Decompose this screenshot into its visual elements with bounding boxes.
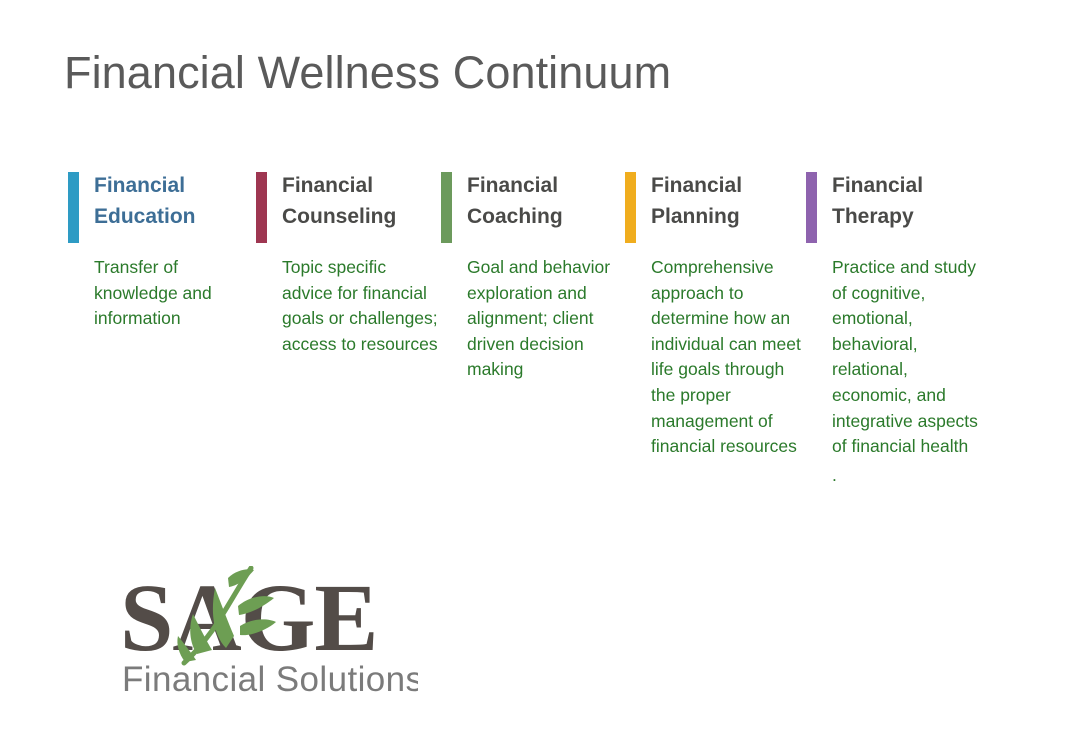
column-heading-line1: Financial [282,174,373,197]
column-heading-line2: Planning [651,201,806,232]
column-heading-financial-counseling: Financial Counseling [282,170,441,232]
column-description-text: Practice and study of cognitive, emotion… [832,257,978,456]
column-heading-line2: Education [94,201,256,232]
column-heading-line1: Financial [94,174,185,197]
sage-financial-solutions-logo: SAGE Financial Solutions [118,566,418,701]
column-heading-line1: Financial [832,174,923,197]
logo-graphic: SAGE Financial Solutions [118,566,418,701]
column-body-financial-education: Financial Education Transfer of knowledg… [79,170,256,332]
continuum-columns: Financial Education Transfer of knowledg… [68,170,1028,488]
accent-bar-financial-counseling [256,172,267,243]
column-heading-line2: Therapy [832,201,986,232]
logo-wordmark-text: SAGE [120,566,377,671]
column-description-financial-therapy: Practice and study of cognitive, emotion… [832,255,986,488]
column-description-financial-planning: Comprehensive approach to determine how … [651,255,806,460]
accent-bar-financial-planning [625,172,636,243]
column-body-financial-therapy: Financial Therapy Practice and study of … [817,170,986,488]
column-heading-financial-education: Financial Education [94,170,256,232]
column-heading-line2: Counseling [282,201,441,232]
column-heading-line2: Coaching [467,201,625,232]
column-description-financial-counseling: Topic specific advice for financial goal… [282,255,441,357]
continuum-column-financial-planning: Financial Planning Comprehensive approac… [625,170,806,460]
column-heading-line1: Financial [651,174,742,197]
column-body-financial-coaching: Financial Coaching Goal and behavior exp… [452,170,625,383]
column-body-financial-planning: Financial Planning Comprehensive approac… [636,170,806,460]
slide-canvas: Financial Wellness Continuum Financial E… [0,0,1092,729]
column-body-financial-counseling: Financial Counseling Topic specific advi… [267,170,441,357]
logo-tagline-text: Financial Solutions [122,660,418,699]
accent-bar-financial-therapy [806,172,817,243]
accent-bar-financial-coaching [441,172,452,243]
column-heading-financial-therapy: Financial Therapy [832,170,986,232]
continuum-column-financial-coaching: Financial Coaching Goal and behavior exp… [441,170,625,383]
continuum-column-financial-therapy: Financial Therapy Practice and study of … [806,170,986,488]
column-heading-financial-planning: Financial Planning [651,170,806,232]
continuum-column-financial-counseling: Financial Counseling Topic specific advi… [256,170,441,357]
column-heading-financial-coaching: Financial Coaching [467,170,625,232]
continuum-column-financial-education: Financial Education Transfer of knowledg… [68,170,256,332]
page-title: Financial Wellness Continuum [64,44,671,102]
column-heading-line1: Financial [467,174,558,197]
column-description-financial-education: Transfer of knowledge and information [94,255,256,332]
column-description-financial-coaching: Goal and behavior exploration and alignm… [467,255,625,383]
accent-bar-financial-education [68,172,79,243]
column-description-trailing-period: . [832,463,986,489]
